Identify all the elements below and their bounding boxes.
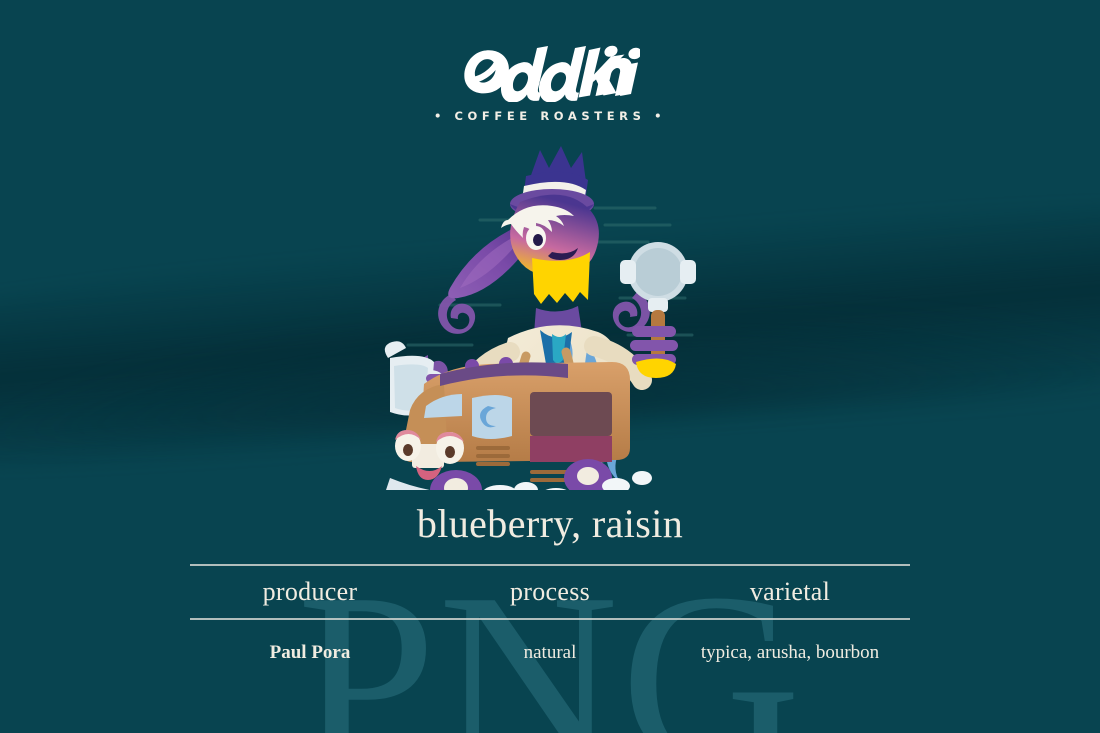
- brand-logo: • COFFEE ROASTERS •: [0, 44, 1100, 123]
- column-header-process: process: [430, 566, 670, 618]
- value-varietal: typica, arusha, bourbon: [670, 640, 910, 667]
- rule-bottom: [190, 618, 910, 620]
- table-header-row: producer process varietal: [190, 566, 910, 618]
- brand-tagline: • COFFEE ROASTERS •: [0, 109, 1100, 123]
- tasting-notes: blueberry, raisin: [190, 500, 910, 564]
- illustration-bird-barista: [380, 130, 720, 490]
- value-process: natural: [430, 640, 670, 667]
- column-header-varietal: varietal: [670, 566, 910, 618]
- oddkin-wordmark-icon: [460, 44, 640, 102]
- coffee-info-block: blueberry, raisin producer process varie…: [190, 500, 910, 667]
- value-producer: Paul Pora: [190, 640, 430, 667]
- column-header-producer: producer: [190, 566, 430, 618]
- rule-top: [190, 564, 910, 566]
- table-value-row: Paul Pora natural typica, arusha, bourbo…: [190, 620, 910, 667]
- coffee-bag-label: PNG • COFFEE ROAST: [0, 0, 1100, 733]
